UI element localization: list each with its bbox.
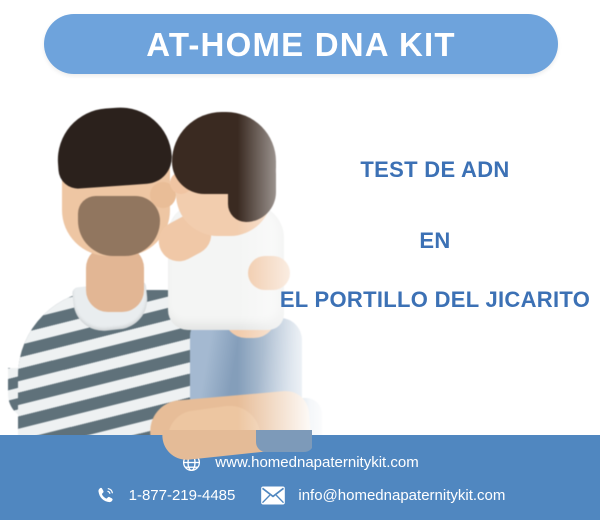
man-hair [54, 104, 173, 190]
headline-line-1: TEST DE ADN [360, 159, 509, 181]
footer-email[interactable]: info@homednapaternitykit.com [261, 486, 505, 505]
headline-line-3: EL PORTILLO DEL JICARITO [280, 289, 590, 311]
phone-label: 1-877-219-4485 [129, 488, 236, 503]
family-photo [0, 78, 330, 450]
photo-footer-overlap [152, 430, 312, 462]
banner-title-pill: AT-HOME DNA KIT [44, 14, 558, 74]
footer-phone[interactable]: 1-877-219-4485 [95, 485, 236, 506]
child-jeans-overlap [256, 430, 312, 452]
dna-kit-banner: AT-HOME DNA KIT TEST DE [0, 0, 600, 520]
footer-row-phone-email: 1-877-219-4485 info@homednapaternitykit.… [0, 485, 600, 506]
email-label: info@homednapaternitykit.com [298, 488, 505, 503]
phone-icon [95, 485, 116, 506]
envelope-icon [261, 486, 285, 505]
man-beard [78, 196, 160, 256]
page-title: AT-HOME DNA KIT [146, 28, 455, 61]
headline-line-2: EN [419, 230, 450, 252]
photo-scene [0, 78, 330, 450]
child-arm-right [248, 256, 290, 290]
child-hair-side [228, 148, 276, 222]
